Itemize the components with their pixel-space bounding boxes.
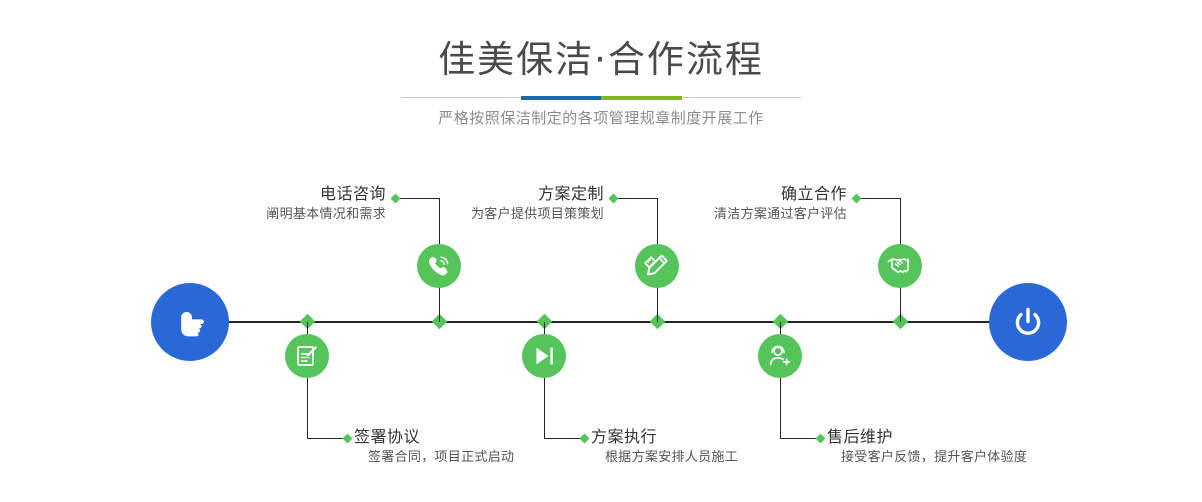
step-label-5: 确立合作 清洁方案通过客户评估 (583, 183, 847, 225)
pointing-hand-icon (168, 300, 212, 344)
page-title: 佳美保洁·合作流程 (0, 36, 1202, 84)
power-icon (1006, 300, 1050, 344)
step-subtitle: 清洁方案通过客户评估 (583, 205, 847, 225)
timeline-end-badge (989, 283, 1067, 361)
step-icon-6[interactable] (758, 334, 802, 378)
divider-segment-blue (521, 96, 601, 100)
step-title: 方案定制 (340, 183, 604, 205)
label-bullet (580, 434, 590, 444)
step-icon-2[interactable] (285, 334, 329, 378)
timeline-start-badge (151, 283, 229, 361)
step-label-2: 签署协议 签署合同，项目正式启动 (354, 426, 514, 468)
connector-elbow-h (780, 438, 820, 439)
step-subtitle: 签署合同，项目正式启动 (354, 448, 514, 468)
connector-elbow-v (900, 198, 901, 230)
label-bullet (852, 194, 862, 204)
connector-elbow-h (544, 438, 584, 439)
divider-segment-green (601, 96, 682, 100)
step-icon-1[interactable] (417, 244, 461, 288)
play-next-icon (531, 343, 557, 369)
step-label-4: 方案执行 根据方案安排人员施工 (591, 426, 738, 468)
step-icon-3[interactable] (635, 244, 679, 288)
step-label-6: 售后维护 接受客户反馈，提升客户体验度 (827, 426, 1027, 468)
step-icon-4[interactable] (522, 334, 566, 378)
connector-elbow-h (307, 438, 347, 439)
pencil-ruler-icon (643, 252, 671, 280)
document-edit-icon (294, 343, 320, 369)
handshake-icon (886, 252, 914, 280)
process-flow-page: 佳美保洁·合作流程 严格按照保洁制定的各项管理规章制度开展工作 (0, 0, 1202, 502)
step-icon-5[interactable] (878, 244, 922, 288)
page-header: 佳美保洁·合作流程 严格按照保洁制定的各项管理规章制度开展工作 (0, 0, 1202, 150)
connector-elbow-h (857, 198, 901, 199)
title-divider (401, 96, 801, 100)
step-title: 签署协议 (354, 426, 514, 448)
step-subtitle: 接受客户反馈，提升客户体验度 (827, 448, 1027, 468)
label-bullet (343, 434, 353, 444)
label-bullet (816, 434, 826, 444)
phone-call-icon (425, 252, 453, 280)
process-timeline: 电话咨询 阐明基本情况和需求 签署协议 签署合同，项目正式启动 (0, 150, 1202, 502)
step-title: 方案执行 (591, 426, 738, 448)
step-title: 确立合作 (583, 183, 847, 205)
step-label-3: 方案定制 为客户提供项目策策划 (340, 183, 604, 225)
page-subtitle: 严格按照保洁制定的各项管理规章制度开展工作 (0, 106, 1202, 130)
step-subtitle: 为客户提供项目策策划 (340, 205, 604, 225)
step-title: 售后维护 (827, 426, 1027, 448)
step-subtitle: 根据方案安排人员施工 (591, 448, 738, 468)
customer-support-icon (767, 343, 793, 369)
